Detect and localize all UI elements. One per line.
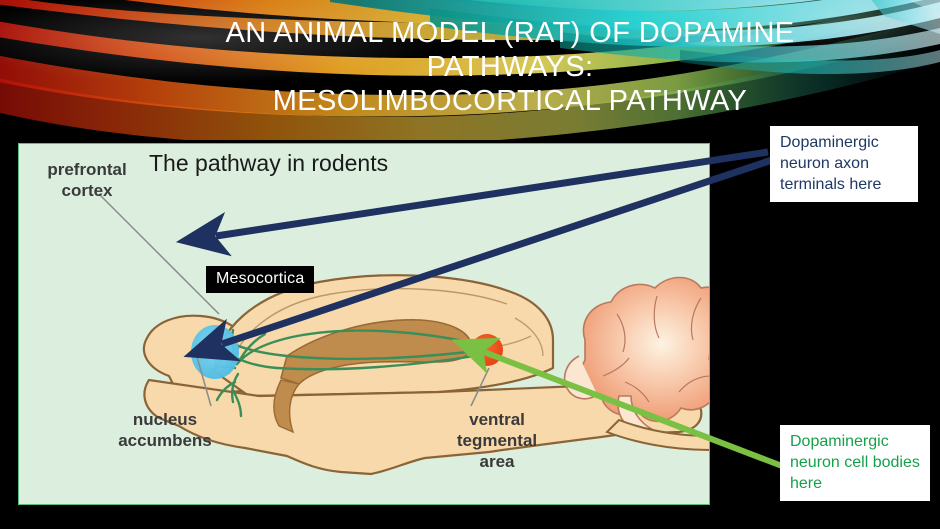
callout-cell-bodies: Dopaminergic neuron cell bodies here: [780, 425, 930, 501]
mesocortical-pathway-tag: Mesocortica: [206, 266, 314, 293]
diagram-panel: The pathway in rodents prefrontal cortex…: [18, 143, 710, 505]
slide-canvas: An animal model (rat) of dopamine pathwa…: [0, 0, 940, 529]
panel-heading: The pathway in rodents: [149, 150, 388, 177]
label-prefrontal-cortex: prefrontal cortex: [27, 159, 147, 201]
callout-axon-terminals: Dopaminergic neuron axon terminals here: [770, 126, 918, 202]
label-ventral-tegmental-area: ventral tegmental area: [419, 409, 575, 472]
label-nucleus-accumbens: nucleus accumbens: [81, 409, 249, 451]
slide-title: An animal model (rat) of dopamine pathwa…: [140, 16, 880, 118]
